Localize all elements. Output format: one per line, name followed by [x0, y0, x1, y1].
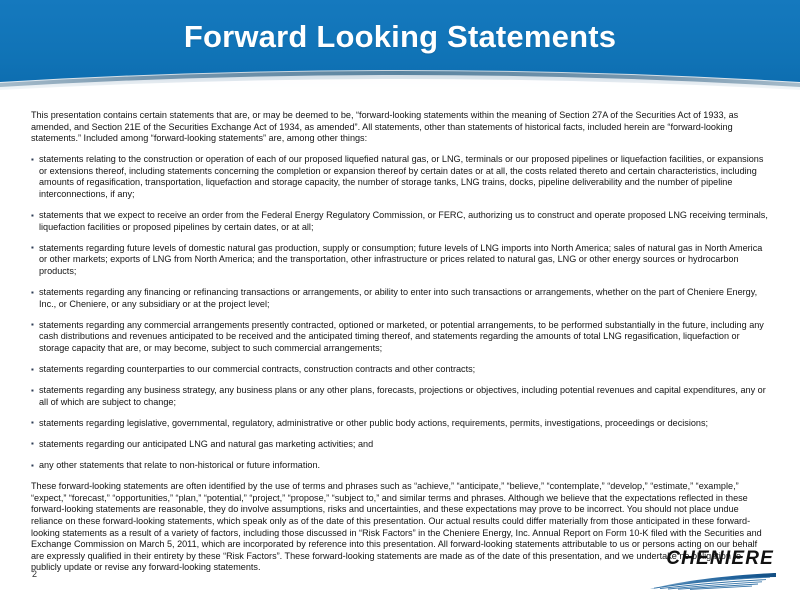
bullet-icon: ▪	[31, 438, 34, 450]
bullet-item-2-text: statements that we expect to receive an …	[39, 210, 768, 232]
bullet-item-10: ▪ any other statements that relate to no…	[31, 460, 771, 472]
bullet-icon: ▪	[31, 460, 34, 472]
bullet-item-2: ▪ statements that we expect to receive a…	[31, 210, 771, 233]
bullet-item-10-text: any other statements that relate to non-…	[39, 460, 320, 470]
bullet-item-3-text: statements regarding future levels of do…	[39, 243, 762, 276]
bullet-item-3: ▪ statements regarding future levels of …	[31, 243, 771, 278]
bullet-icon: ▪	[31, 385, 34, 397]
bullet-icon: ▪	[31, 242, 34, 254]
bullet-icon: ▪	[31, 154, 34, 166]
bullet-icon: ▪	[31, 319, 34, 331]
bullet-icon: ▪	[31, 287, 34, 299]
bullet-item-4-text: statements regarding any financing or re…	[39, 287, 757, 309]
page-number: 2	[32, 569, 37, 579]
bullet-item-1: ▪ statements relating to the constructio…	[31, 154, 771, 200]
bullet-item-6-text: statements regarding counterparties to o…	[39, 364, 475, 374]
bullet-icon: ▪	[31, 417, 34, 429]
bullet-item-8-text: statements regarding legislative, govern…	[39, 418, 708, 428]
logo-wordmark: CHENIERE	[666, 548, 774, 570]
slide-body: This presentation contains certain state…	[31, 110, 771, 583]
page-title: Forward Looking Statements	[0, 18, 800, 56]
bullet-item-4: ▪ statements regarding any financing or …	[31, 287, 771, 310]
bullet-icon: ▪	[31, 364, 34, 376]
bullet-item-5: ▪ statements regarding any commercial ar…	[31, 320, 771, 355]
bullet-icon: ▪	[31, 210, 34, 222]
cheniere-logo: CHENIERE	[638, 548, 778, 590]
bullet-item-7: ▪ statements regarding any business stra…	[31, 385, 771, 408]
bullet-item-8: ▪ statements regarding legislative, gove…	[31, 418, 771, 430]
bullet-item-6: ▪ statements regarding counterparties to…	[31, 364, 771, 376]
bullet-item-5-text: statements regarding any commercial arra…	[39, 320, 764, 353]
bullet-item-9: ▪ statements regarding our anticipated L…	[31, 439, 771, 451]
slide-header: Forward Looking Statements	[0, 0, 800, 96]
intro-paragraph: This presentation contains certain state…	[31, 110, 771, 145]
bullet-item-7-text: statements regarding any business strate…	[39, 385, 766, 407]
bullet-item-1-text: statements relating to the construction …	[39, 154, 763, 199]
bullet-item-9-text: statements regarding our anticipated LNG…	[39, 439, 373, 449]
logo-swoosh-icon	[638, 570, 778, 590]
